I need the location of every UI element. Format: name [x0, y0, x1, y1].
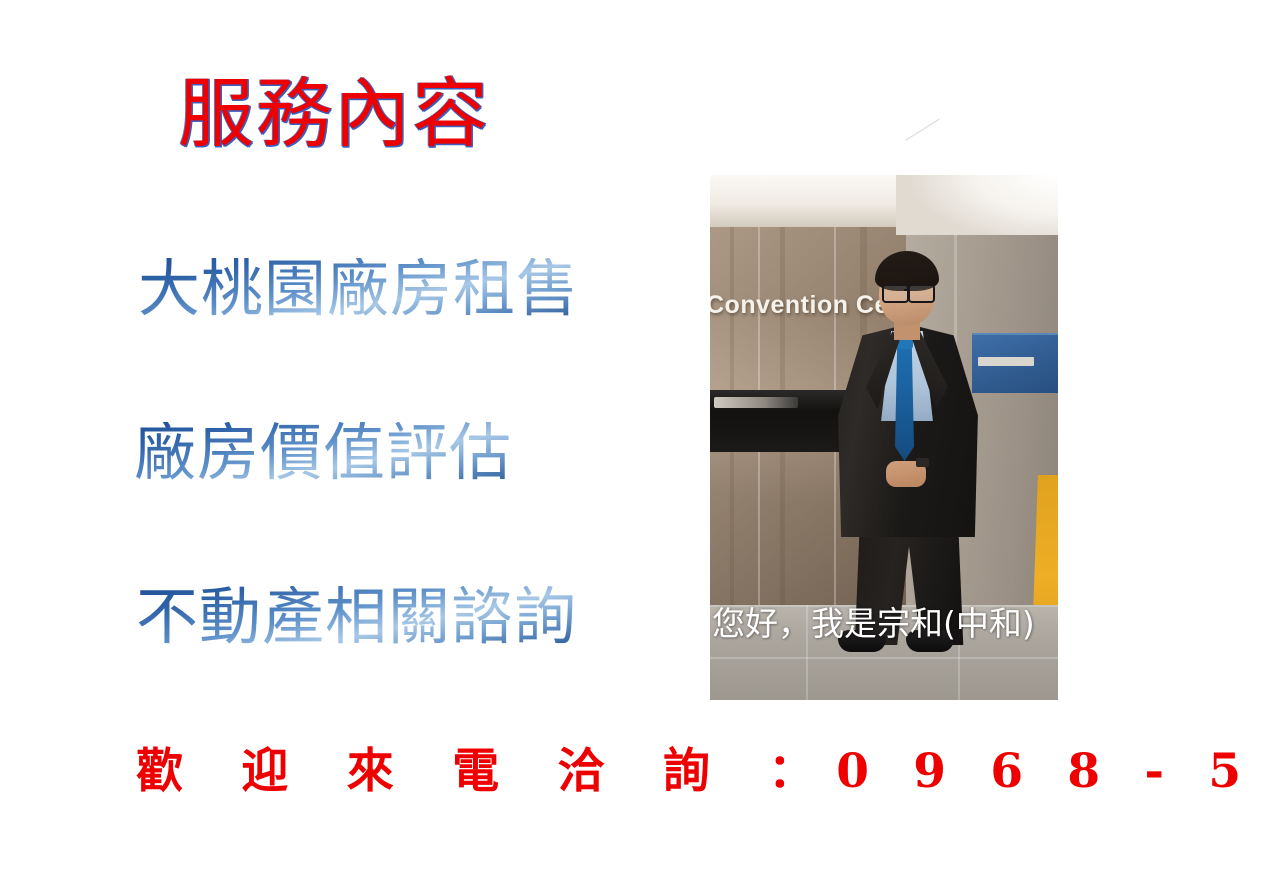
band-highlight: [714, 397, 798, 408]
contact-label: 歡 迎 來 電 洽 詢 ：: [136, 744, 836, 799]
ceiling-curve: [896, 175, 1058, 235]
blue-panel-label-strip: [978, 357, 1034, 366]
diagonal-line-artifact: [905, 119, 951, 160]
slide-canvas: 服務內容 大桃園廠房租售 廠房價值評估 不動產相關諮詢 Convention C…: [0, 0, 1263, 891]
contact-phone-number[interactable]: 0 9 6 8 - 5 1 9 - 8 8 8: [836, 744, 1263, 799]
person-necktie: [895, 341, 914, 461]
service-item-valuation: 廠房價值評估: [134, 422, 512, 484]
glasses-icon: [882, 284, 909, 303]
floor-tile-line: [710, 657, 1058, 659]
service-item-factory-lease: 大桃園廠房租售: [138, 258, 579, 320]
glasses-bridge: [904, 289, 910, 291]
contact-line: 歡 迎 來 電 洽 詢 ：0 9 6 8 - 5 1 9 - 8 8 8: [136, 748, 1263, 795]
glasses-icon: [908, 284, 935, 303]
convention-center-sign: Convention Ce: [710, 291, 889, 320]
wristwatch-icon: [916, 458, 929, 467]
photo-caption: 您好，我是宗和(中和): [712, 606, 1035, 642]
service-item-consulting: 不動產相關諮詢: [136, 586, 577, 648]
page-title: 服務內容: [178, 76, 490, 152]
